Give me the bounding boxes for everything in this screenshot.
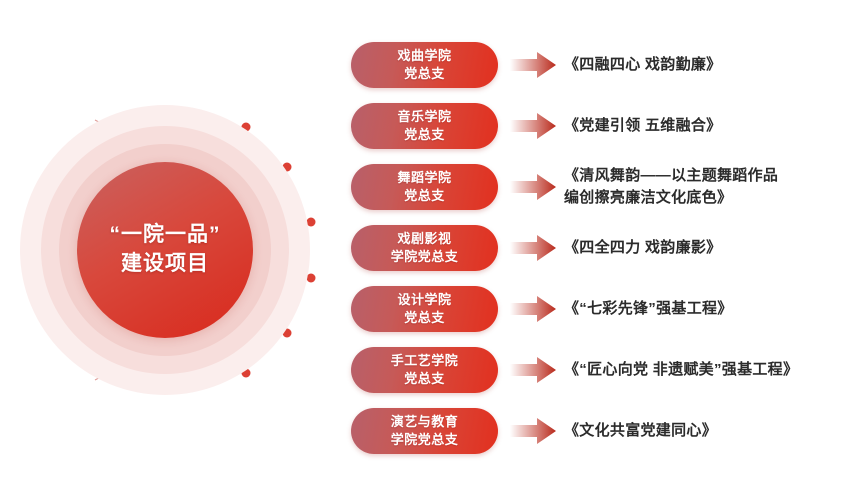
pill-music-academy[interactable]: 音乐学院 党总支 [351,103,498,149]
project-row: 《“七彩先锋”强基工程》 [510,286,858,332]
project-title: 《文化共富党建同心》 [564,420,717,442]
pill-label: 舞蹈学院 党总支 [397,169,451,206]
project-title: 《四全四力 戏韵廉影》 [564,237,721,259]
pill-label: 设计学院 党总支 [397,291,451,328]
pill-label: 戏剧影视 学院党总支 [391,230,459,267]
project-row: 《“匠心向党 非遗赋美”强基工程》 [510,347,858,393]
project-title: 《“七彩先锋”强基工程》 [564,298,733,320]
project-row: 《党建引领 五维融合》 [510,103,858,149]
pill-design-academy[interactable]: 设计学院 党总支 [351,286,498,332]
project-title-list: 《四融四心 戏韵勤廉》 《党建引领 五维融合》 《清风舞韵——以主题舞蹈作品 编… [510,42,858,469]
project-row: 《四融四心 戏韵勤廉》 [510,42,858,88]
right-arrow-icon [510,174,556,200]
project-title: 《党建引领 五维融合》 [564,115,721,137]
pill-drama-film-academy[interactable]: 戏剧影视 学院党总支 [351,225,498,271]
emblem-graphic: “一院一品” 建设项目 [0,95,330,405]
project-title: 《四融四心 戏韵勤廉》 [564,54,721,76]
pill-label: 音乐学院 党总支 [397,108,451,145]
right-arrow-icon [510,235,556,261]
pill-label: 戏曲学院 党总支 [397,47,451,84]
right-arrow-icon [510,357,556,383]
project-row: 《清风舞韵——以主题舞蹈作品 编创擦亮廉洁文化底色》 [510,164,858,210]
pill-label: 手工艺学院 党总支 [391,352,459,389]
pill-xiqu-academy[interactable]: 戏曲学院 党总支 [351,42,498,88]
right-arrow-icon [510,296,556,322]
project-title: 《清风舞韵——以主题舞蹈作品 编创擦亮廉洁文化底色》 [564,165,778,209]
project-row: 《文化共富党建同心》 [510,408,858,454]
right-arrow-icon [510,418,556,444]
project-row: 《四全四力 戏韵廉影》 [510,225,858,271]
pill-dance-academy[interactable]: 舞蹈学院 党总支 [351,164,498,210]
emblem-title: “一院一品” 建设项目 [75,221,255,279]
right-arrow-icon [510,113,556,139]
right-arrow-icon [510,52,556,78]
pill-handicraft-academy[interactable]: 手工艺学院 党总支 [351,347,498,393]
pill-performing-education-academy[interactable]: 演艺与教育 学院党总支 [351,408,498,454]
department-pill-list: 戏曲学院 党总支 音乐学院 党总支 舞蹈学院 党总支 戏剧影视 学院党总支 设计… [351,42,501,469]
project-title: 《“匠心向党 非遗赋美”强基工程》 [564,359,798,381]
pill-label: 演艺与教育 学院党总支 [391,413,459,450]
